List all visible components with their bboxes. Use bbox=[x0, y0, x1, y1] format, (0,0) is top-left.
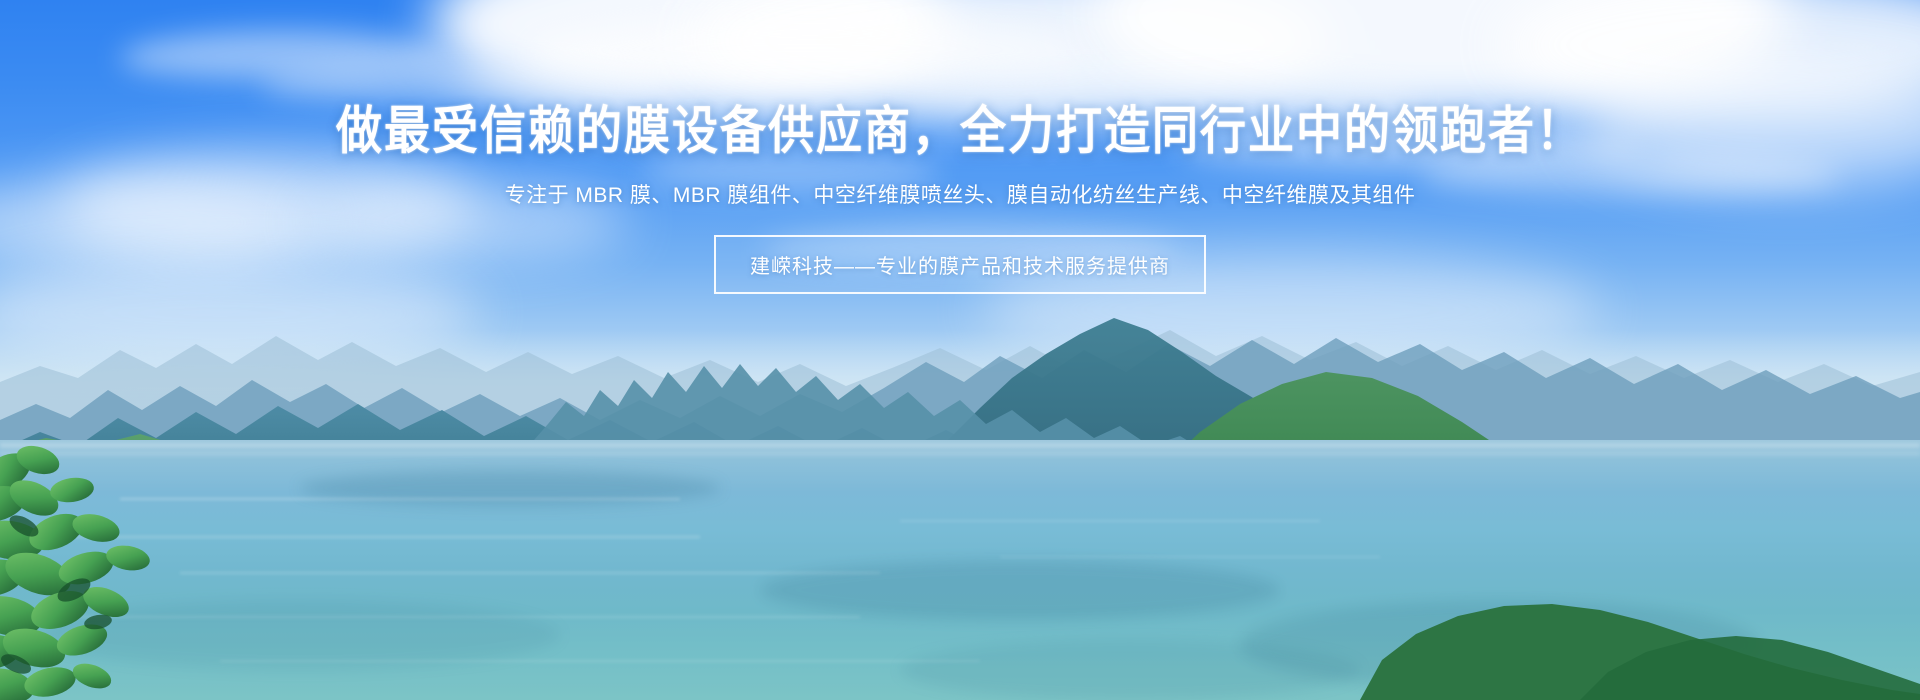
foreground-right-greenery bbox=[1060, 540, 1920, 700]
hero-banner: 做最受信赖的膜设备供应商，全力打造同行业中的领跑者！ 专注于 MBR 膜、MBR… bbox=[0, 0, 1920, 700]
foreground-foliage-branch bbox=[0, 432, 236, 700]
